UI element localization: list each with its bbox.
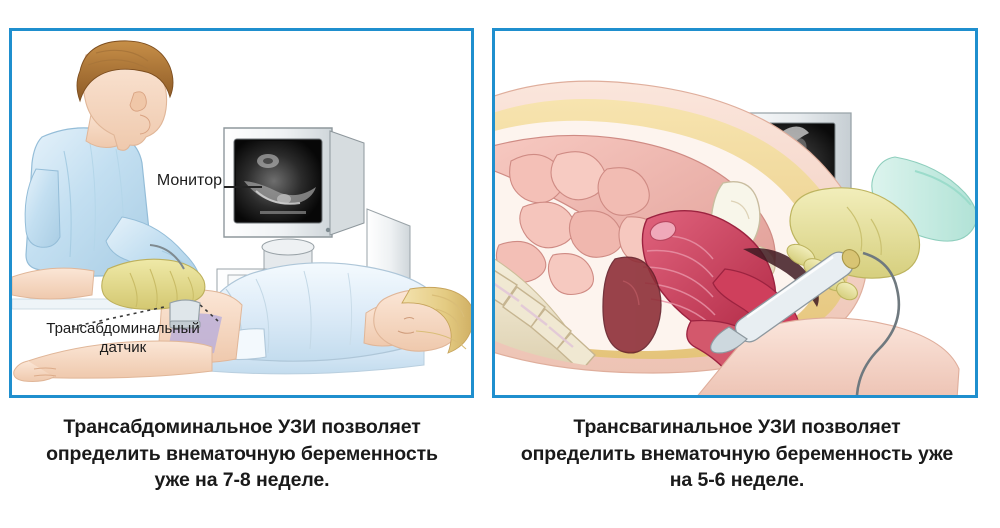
label-transabdominal-probe: Трансабдоминальный датчик <box>28 319 218 357</box>
rectum <box>603 257 661 353</box>
leader-line-monitor-left <box>224 186 262 188</box>
caption-transabdominal: Трансабдоминальное УЗИ позволяет определ… <box>6 414 478 494</box>
caption-line: на 5-6 неделе. <box>494 467 980 494</box>
ultrasound-scan-image <box>236 141 320 221</box>
label-monitor-left: Монитор <box>122 171 222 190</box>
caption-line: Трансабдоминальное УЗИ позволяет <box>6 414 478 441</box>
scene-transvaginal <box>495 31 975 395</box>
illustration-transvaginal-ultrasound <box>495 31 975 395</box>
caption-line: определить внематочную беременность уже <box>494 441 980 468</box>
caption-line: определить внематочную беременность <box>6 441 478 468</box>
caption-transvaginal: Трансвагинальное УЗИ позволяет определит… <box>494 414 980 494</box>
crt-monitor <box>224 128 364 237</box>
panel-transabdominal: Монитор Трансабдоминальный датчик <box>9 28 474 398</box>
caption-line: уже на 7-8 неделе. <box>6 467 478 494</box>
caption-line: Трансвагинальное УЗИ позволяет <box>494 414 980 441</box>
figure-root: Монитор Трансабдоминальный датчик <box>0 0 1000 528</box>
panel-transvaginal: Монитор Трансвагинальный датчик <box>492 28 978 398</box>
